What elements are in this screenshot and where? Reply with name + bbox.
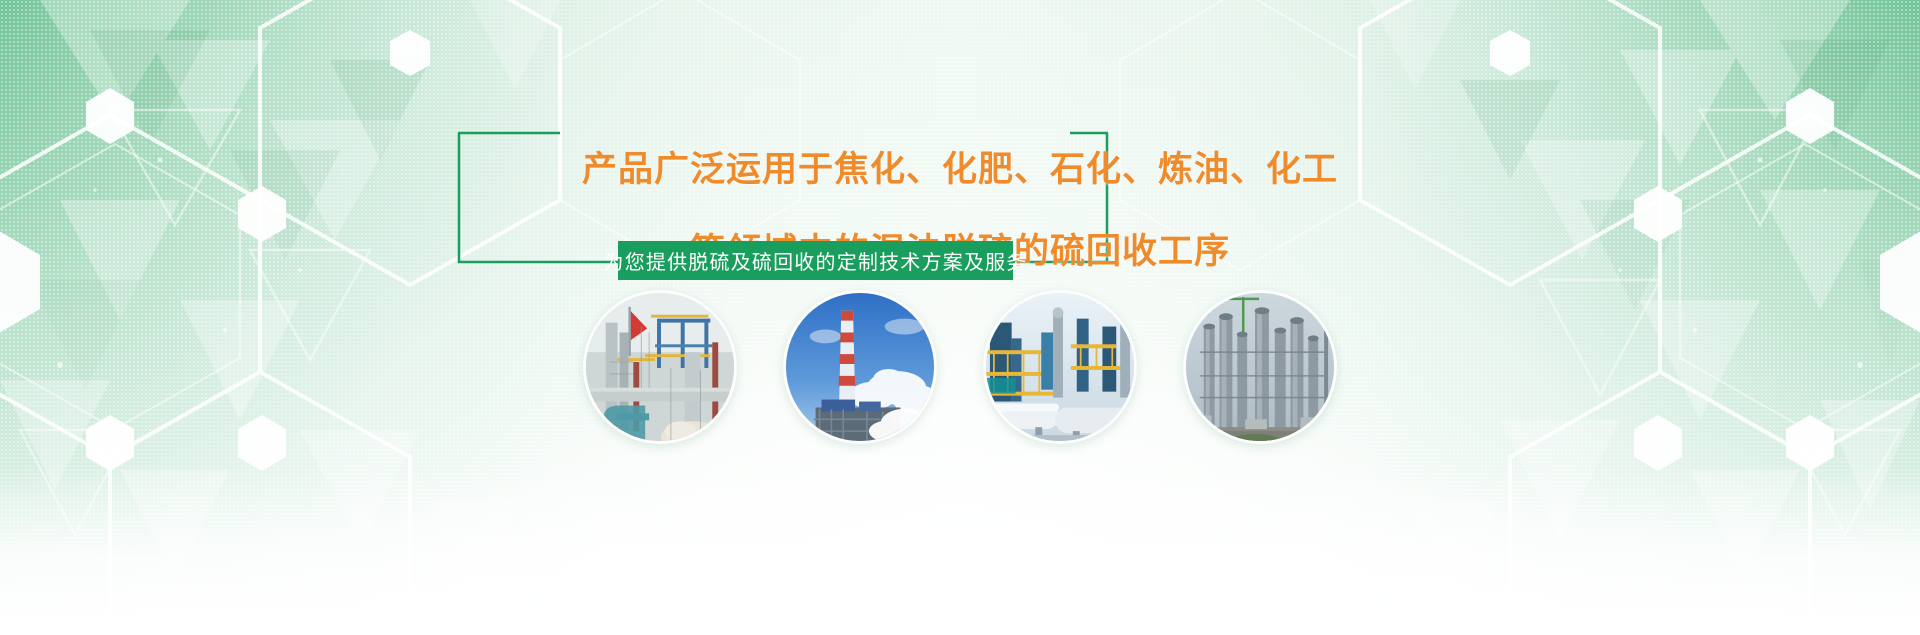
desulfurization-plant-photo[interactable] [583, 290, 737, 444]
subtitle-bar: 为您提供脱硫及硫回收的定制技术方案及服务 [618, 241, 1013, 280]
refinery-towers-photo[interactable] [1183, 290, 1337, 444]
sulfur-recovery-unit-photo[interactable] [983, 290, 1137, 444]
page-title: 产品广泛运用于焦化、化肥、石化、炼油、化工 等领域中的湿法脱硫的硫回收工序 [0, 108, 1920, 313]
headline-line-1: 产品广泛运用于焦化、化肥、石化、炼油、化工 [0, 149, 1920, 190]
hero-banner: 产品广泛运用于焦化、化肥、石化、炼油、化工 等领域中的湿法脱硫的硫回收工序 为您… [0, 0, 1920, 635]
banner-content: 产品广泛运用于焦化、化肥、石化、炼油、化工 等领域中的湿法脱硫的硫回收工序 为您… [0, 0, 1920, 635]
subtitle-text: 为您提供脱硫及硫回收的定制技术方案及服务 [604, 246, 1028, 275]
power-plant-stack-photo[interactable] [783, 290, 937, 444]
photo-gallery [0, 290, 1920, 444]
